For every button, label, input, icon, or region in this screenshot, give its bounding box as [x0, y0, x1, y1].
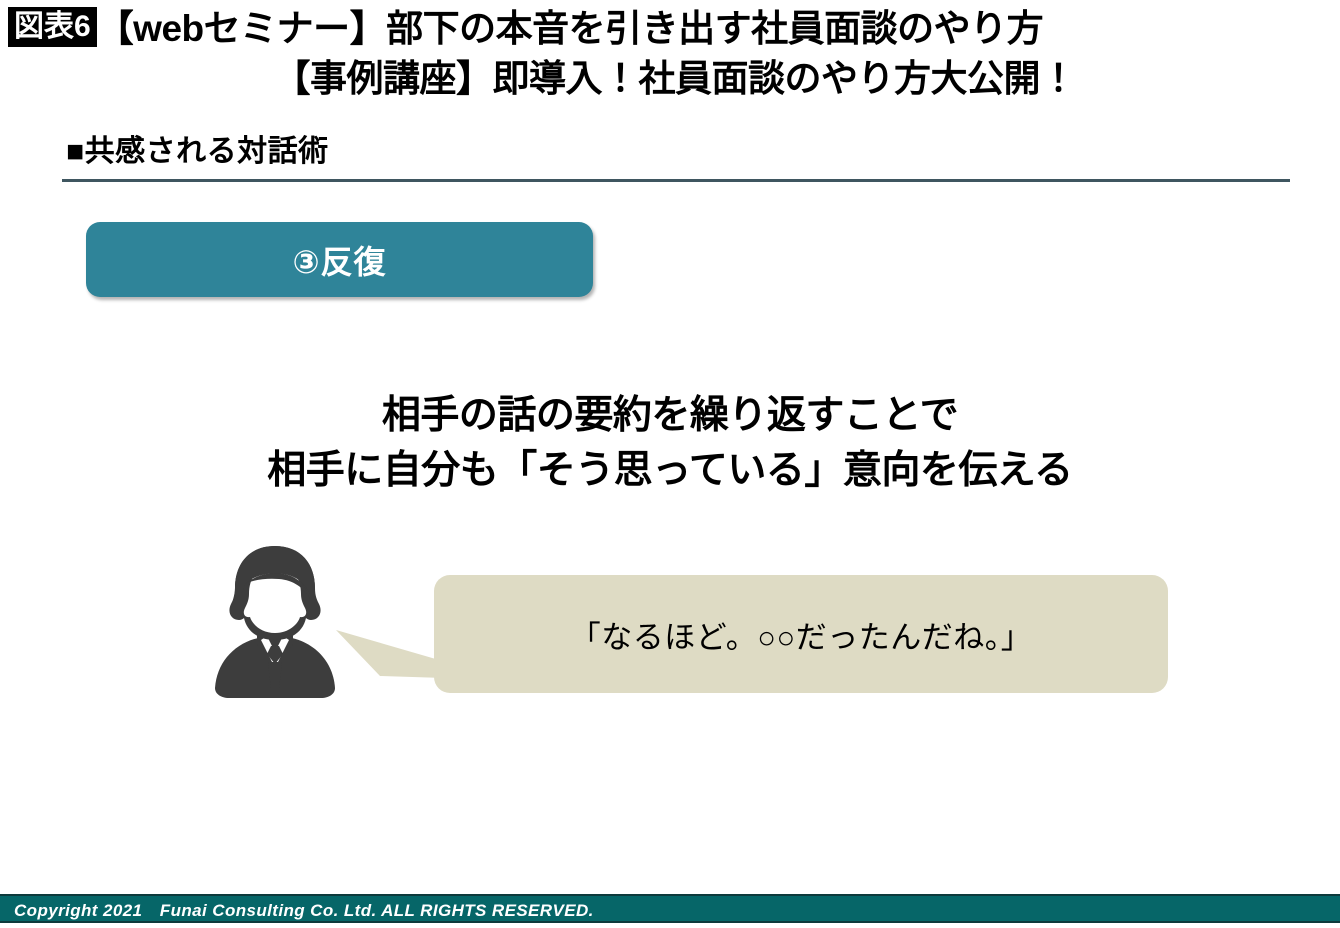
speech-bubble-tail-icon: [336, 622, 446, 678]
header-divider-line: [62, 179, 1290, 182]
footer-bar: Copyright 2021 Funai Consulting Co. Ltd.…: [0, 894, 1340, 923]
speech-bubble: 「なるほど。○○だったんだね。」: [434, 575, 1168, 693]
speech-bubble-text: 「なるほど。○○だったんだね。」: [570, 612, 1032, 657]
main-message-line-2: 相手に自分も「そう思っている」意向を伝える: [0, 443, 1340, 498]
title-line-2-text: 【事例講座】即導入！社員面談のやり方大公開！: [0, 54, 1340, 104]
copyright-text: Copyright 2021 Funai Consulting Co. Ltd.…: [0, 896, 594, 921]
main-message-line-1: 相手の話の要約を繰り返すことで: [0, 388, 1340, 443]
step-pill-label: ③反復: [292, 237, 386, 283]
slide-canvas: 図表6【webセミナー】部下の本音を引き出す社員面談のやり方 【事例講座】即導入…: [0, 0, 1340, 928]
slide-title: 図表6【webセミナー】部下の本音を引き出す社員面談のやり方 【事例講座】即導入…: [0, 4, 1340, 104]
title-line-1-text: 【webセミナー】部下の本音を引き出す社員面談のやり方: [97, 8, 1043, 49]
main-message: 相手の話の要約を繰り返すことで 相手に自分も「そう思っている」意向を伝える: [0, 388, 1340, 498]
step-pill-repetition[interactable]: ③反復: [86, 222, 593, 297]
figure-number-badge: 図表6: [8, 7, 97, 47]
section-heading: ■共感される対話術: [66, 126, 329, 170]
title-line-1-row: 図表6【webセミナー】部下の本音を引き出す社員面談のやり方: [0, 4, 1340, 54]
businessman-avatar-icon: [205, 540, 345, 700]
